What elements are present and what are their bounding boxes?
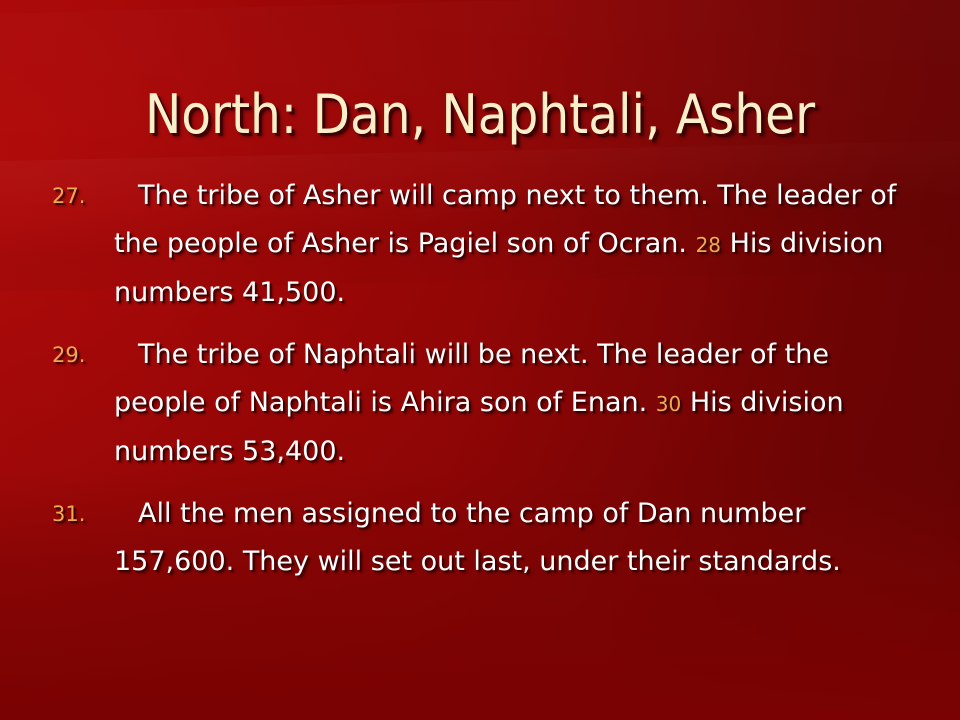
verse-number: 30: [656, 392, 681, 416]
list-item: 31. All the men assigned to the camp of …: [52, 490, 897, 586]
list-item: 27. The tribe of Asher will camp next to…: [52, 172, 897, 317]
list-item-number: 31.: [52, 490, 104, 538]
list-item-text: All the men assigned to the camp of Dan …: [114, 490, 897, 586]
slide-body-list: 27. The tribe of Asher will camp next to…: [52, 172, 897, 586]
list-item-text: The tribe of Naphtali will be next. The …: [114, 331, 897, 476]
list-item-text-segment: All the men assigned to the camp of Dan …: [114, 498, 841, 577]
list-item-number: 27.: [52, 172, 104, 220]
presentation-slide: North: Dan, Naphtali, Asher 27. The trib…: [0, 0, 960, 720]
list-item-text: The tribe of Asher will camp next to the…: [114, 172, 897, 317]
list-item-number: 29.: [52, 331, 104, 379]
list-item: 29. The tribe of Naphtali will be next. …: [52, 331, 897, 476]
slide-title: North: Dan, Naphtali, Asher: [0, 84, 960, 146]
slide-content: North: Dan, Naphtali, Asher 27. The trib…: [0, 0, 960, 720]
verse-number: 28: [696, 233, 721, 257]
